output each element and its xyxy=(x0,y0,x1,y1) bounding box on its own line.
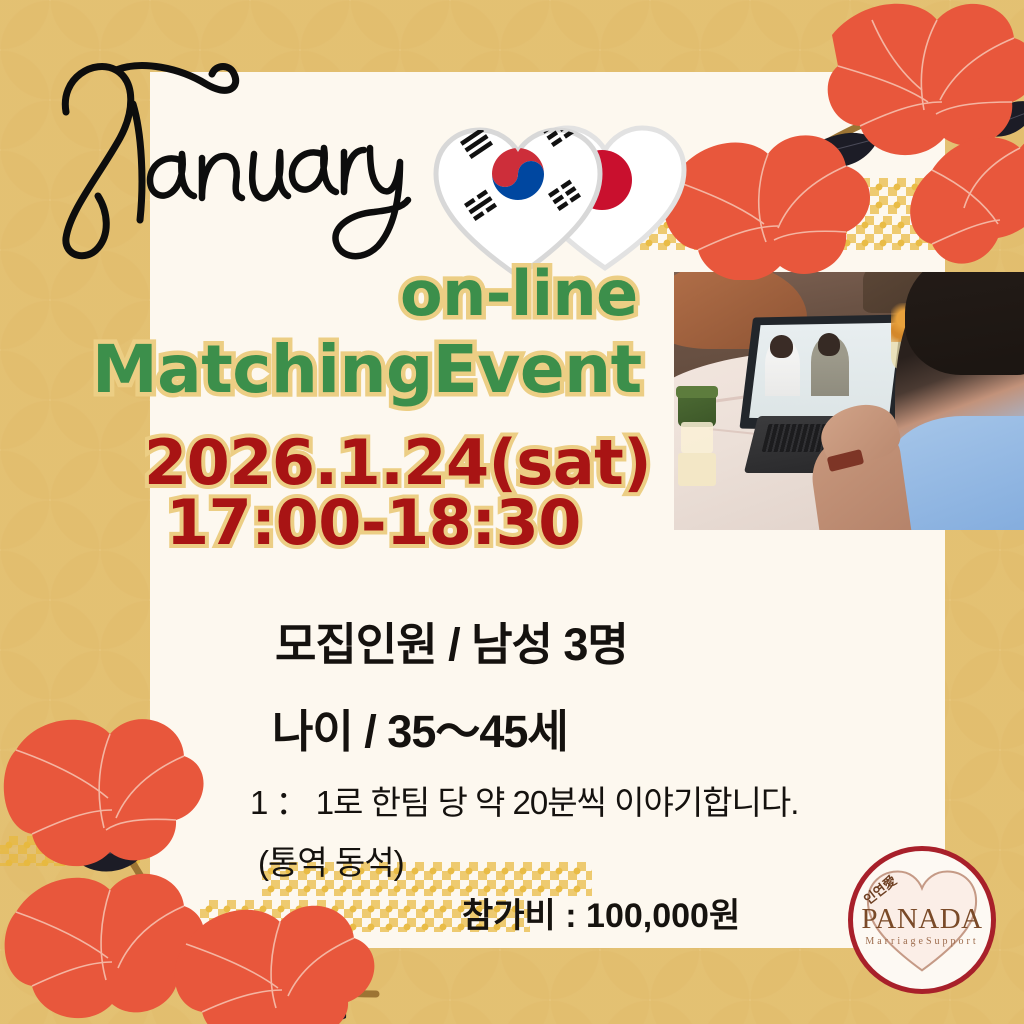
peony-floral-icon xyxy=(632,0,1024,280)
event-details: 모집인원 / 남성 3명 나이 / 35〜45세 1 ： 1로 한팀 당 약 2… xyxy=(250,608,950,884)
detail-recruit: 모집인원 / 남성 3명 xyxy=(275,608,950,673)
panada-logo: 인연愛 PANADA MarriageSupport xyxy=(848,846,996,994)
logo-tagline: MarriageSupport xyxy=(853,936,991,947)
flag-hearts-group xyxy=(430,88,690,278)
month-script-january xyxy=(30,42,430,272)
detail-age: 나이 / 35〜45세 xyxy=(272,695,950,760)
participation-fee: 참가비 : 100,000원 xyxy=(462,888,740,937)
headline-line-2: MatchingEvent xyxy=(92,337,642,403)
event-date: 2026.1.24(sat) xyxy=(144,432,651,494)
detail-format: 1 ： 1로 한팀 당 약 20분씩 이야기합니다. xyxy=(250,776,950,824)
logo-brand: PANADA xyxy=(853,903,991,936)
detail-note: (통역 동석) xyxy=(258,836,950,884)
poster-canvas: on-line MatchingEvent 2026.1.24(sat) 17:… xyxy=(0,0,1024,1024)
video-call-photo xyxy=(674,272,1024,530)
event-time: 17:00-18:30 xyxy=(166,492,581,554)
headline-line-1: on-line xyxy=(400,263,638,325)
